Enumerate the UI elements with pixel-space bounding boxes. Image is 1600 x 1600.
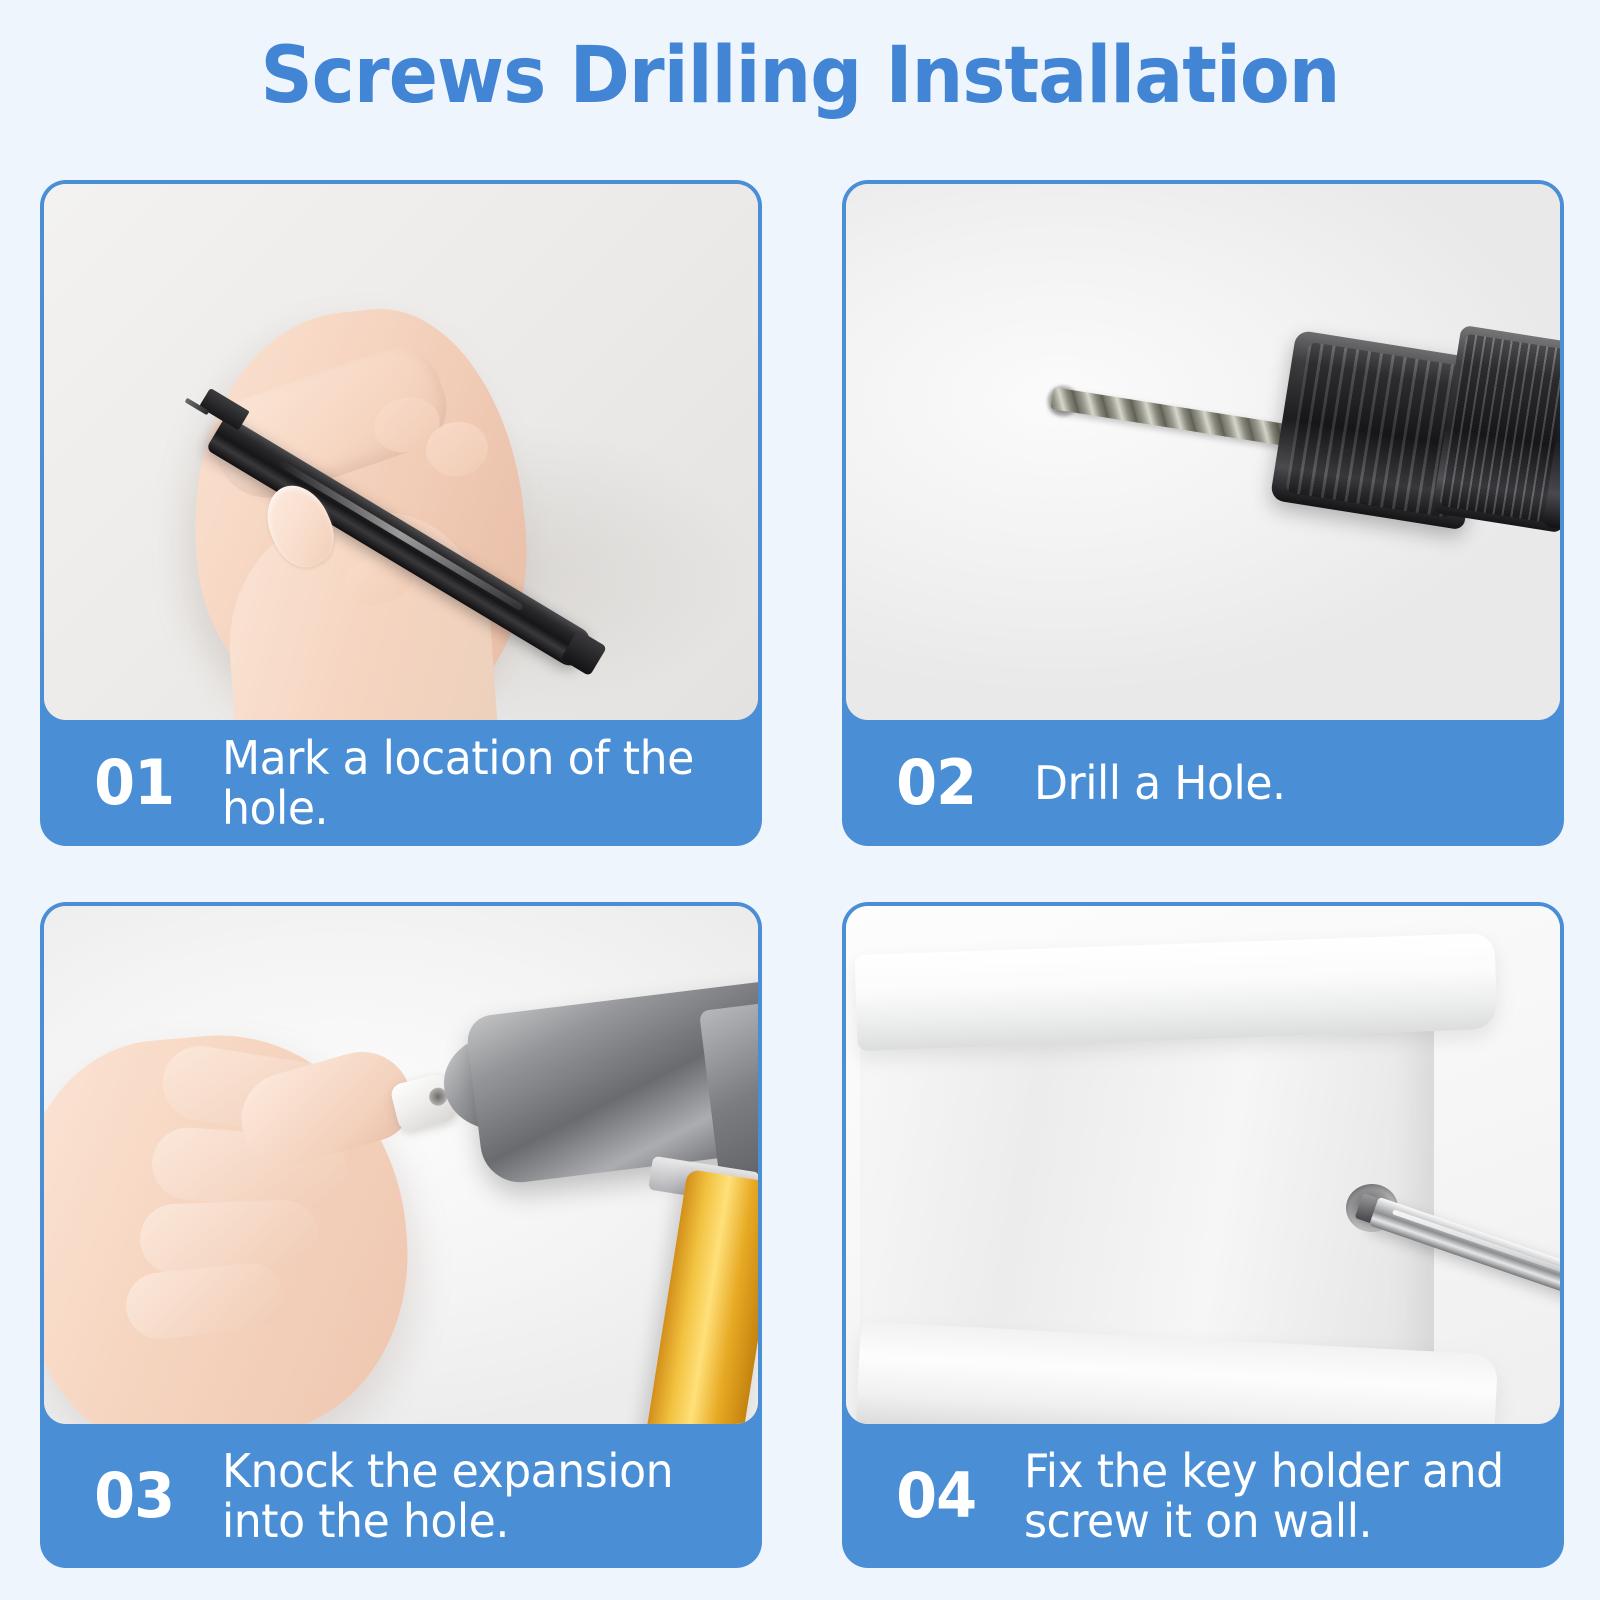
step-image-02: 1 3 5 7 (846, 184, 1560, 720)
steps-grid: 01 Mark a location of the hole. 1 3 5 7 (40, 180, 1564, 1568)
finger-icon (139, 1199, 319, 1275)
step-image-04 (846, 906, 1560, 1424)
step-card-04[interactable]: 04 Fix the key holder and screw it on wa… (842, 902, 1564, 1568)
step-number-02: 02 (896, 752, 976, 814)
step-text-01: Mark a location of the hole. (222, 733, 740, 833)
key-holder-back-plate-icon (860, 1024, 1434, 1362)
step-card-02[interactable]: 1 3 5 7 02 Drill a Hole. (842, 180, 1564, 846)
step-text-04: Fix the key holder and screw it on wall. (1024, 1446, 1542, 1546)
step-caption-01: 01 Mark a location of the hole. (40, 720, 762, 846)
step-text-02: Drill a Hole. (1034, 758, 1286, 808)
step-text-03: Knock the expansion into the hole. (222, 1446, 740, 1546)
step-caption-02: 02 Drill a Hole. (842, 720, 1564, 846)
step-card-01[interactable]: 01 Mark a location of the hole. (40, 180, 762, 846)
step-caption-04: 04 Fix the key holder and screw it on wa… (842, 1424, 1564, 1568)
step-caption-03: 03 Knock the expansion into the hole. (40, 1424, 762, 1568)
step-image-01 (44, 184, 758, 720)
step-number-04: 04 (896, 1465, 976, 1527)
step-number-01: 01 (94, 752, 174, 814)
step-image-03 (44, 906, 758, 1424)
step-card-03[interactable]: 03 Knock the expansion into the hole. (40, 902, 762, 1568)
page-title: Screws Drilling Installation (56, 34, 1544, 118)
step-number-03: 03 (94, 1465, 174, 1527)
